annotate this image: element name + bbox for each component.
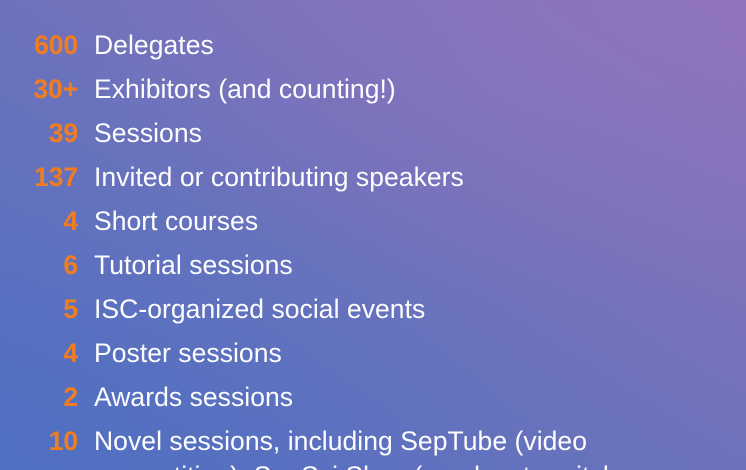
stat-label: Exhibitors (and counting!): [78, 72, 746, 107]
stat-label: Delegates: [78, 28, 746, 63]
stat-value: 4: [0, 336, 78, 371]
stat-value: 30+: [0, 72, 78, 107]
stat-value: 600: [0, 28, 78, 63]
stat-row: 4Poster sessions: [0, 336, 746, 371]
stat-label: Poster sessions: [78, 336, 746, 371]
conference-statistics-panel: 600Delegates30+Exhibitors (and counting!…: [0, 0, 746, 470]
stat-value: 2: [0, 380, 78, 415]
statistics-list: 600Delegates30+Exhibitors (and counting!…: [0, 28, 746, 470]
stat-value: 6: [0, 248, 78, 283]
stat-value: 137: [0, 160, 78, 195]
stat-row: 30+Exhibitors (and counting!): [0, 72, 746, 107]
stat-label: Awards sessions: [78, 380, 746, 415]
stat-row: 4Short courses: [0, 204, 746, 239]
stat-label: Sessions: [78, 116, 746, 151]
stat-label: Short courses: [78, 204, 746, 239]
stat-row: 600Delegates: [0, 28, 746, 63]
stat-row: 2Awards sessions: [0, 380, 746, 415]
stat-row: 6Tutorial sessions: [0, 248, 746, 283]
stat-value: 5: [0, 292, 78, 327]
stat-label: Tutorial sessions: [78, 248, 746, 283]
stat-row: 5ISC-organized social events: [0, 292, 746, 327]
stat-value: 4: [0, 204, 78, 239]
stat-value: 10: [0, 424, 78, 459]
stat-value: 39: [0, 116, 78, 151]
stat-label: Novel sessions, including SepTube (video…: [78, 424, 746, 470]
stat-row: 137Invited or contributing speakers: [0, 160, 746, 195]
stat-row: 10Novel sessions, including SepTube (vid…: [0, 424, 746, 470]
stat-row: 39Sessions: [0, 116, 746, 151]
stat-label: Invited or contributing speakers: [78, 160, 746, 195]
stat-label: ISC-organized social events: [78, 292, 746, 327]
